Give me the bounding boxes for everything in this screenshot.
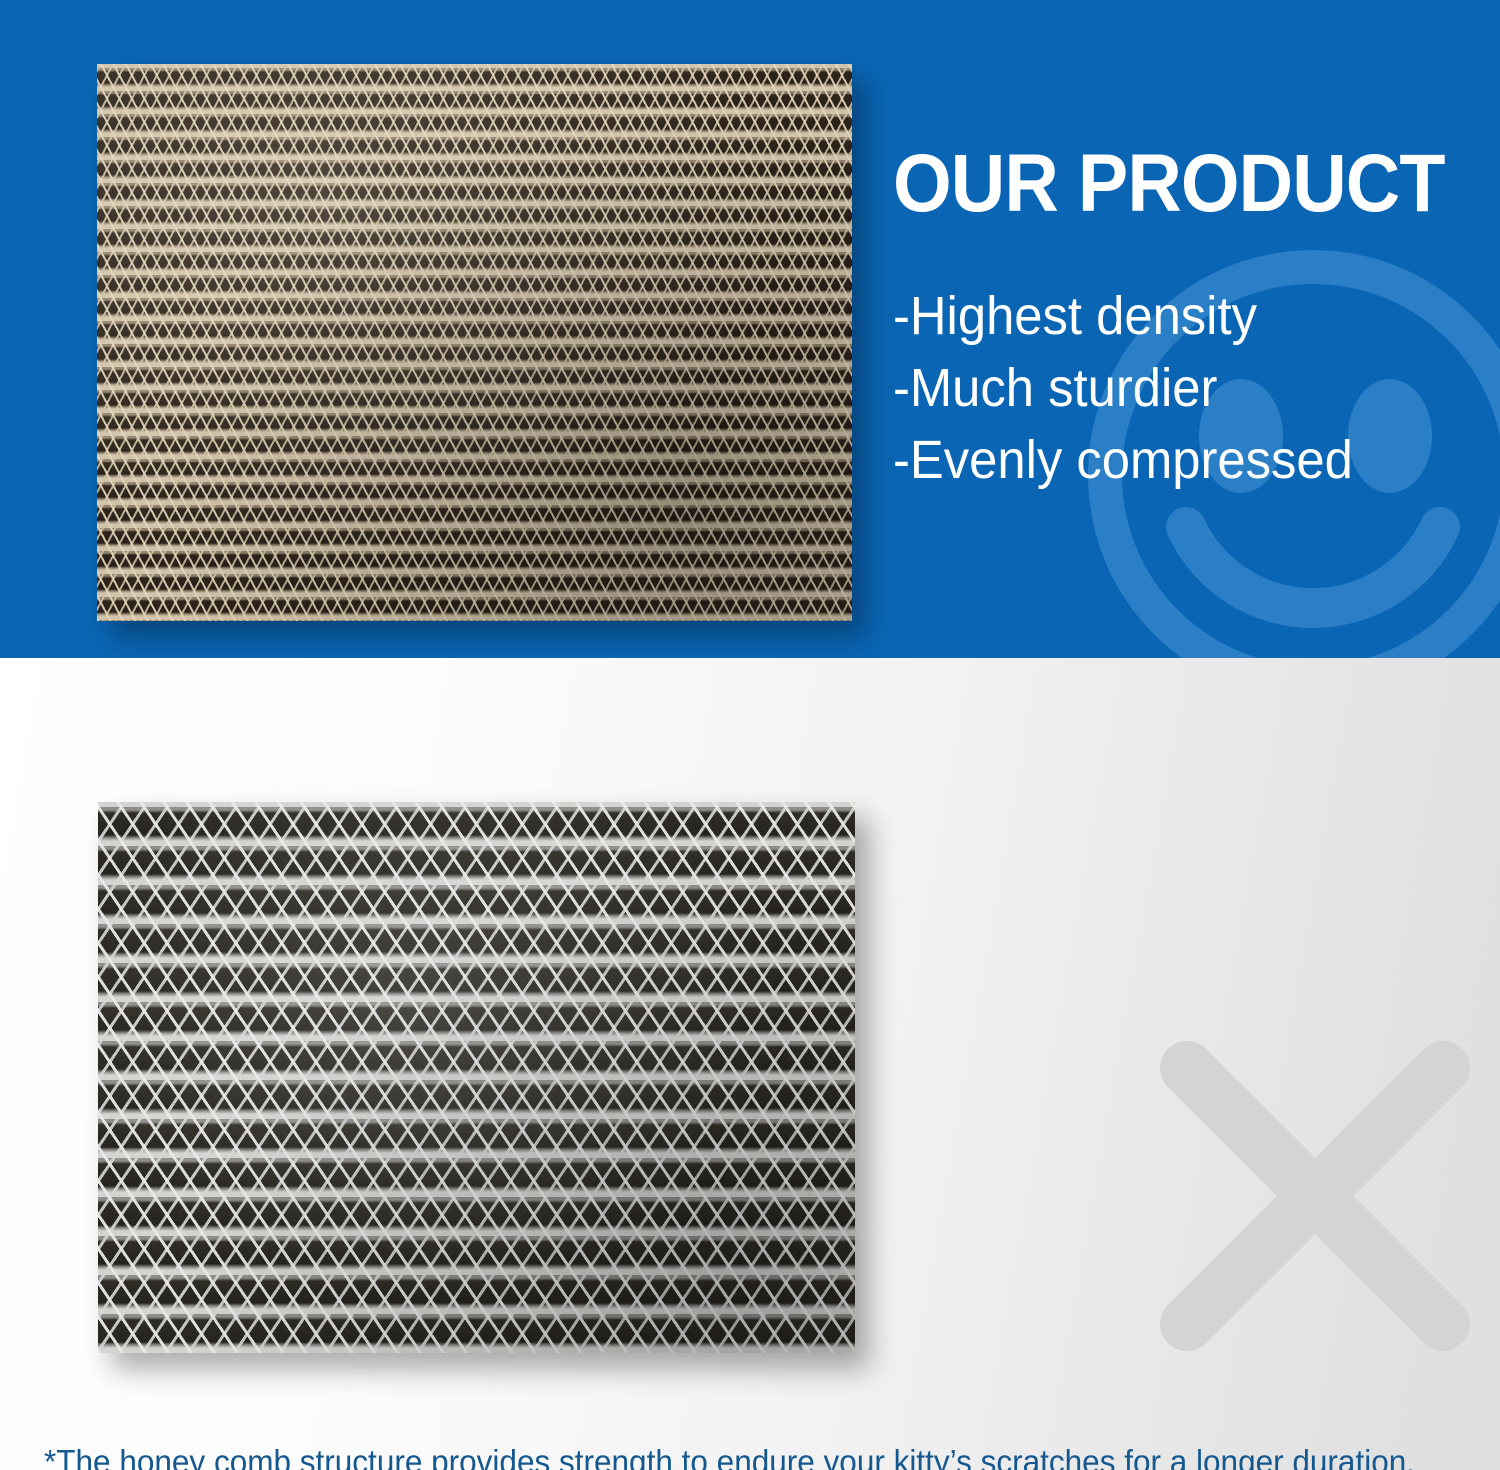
our-product-copy: OUR PRODUCT -Highest density -Much sturd… — [893, 145, 1493, 496]
our-product-bullet-list: -Highest density -Much sturdier -Evenly … — [893, 281, 1493, 496]
product-comparison-poster: OUR PRODUCT -Highest density -Much sturd… — [0, 0, 1500, 1470]
our-product-panel: OUR PRODUCT -Highest density -Much sturd… — [0, 0, 1500, 658]
our-product-bullet: -Evenly compressed — [893, 425, 1457, 497]
coarse-flute-texture — [98, 802, 855, 1353]
our-product-cardboard-image — [97, 64, 852, 621]
others-cardboard-image — [98, 802, 855, 1353]
others-panel: OTHERS -Large grooves -Light weight -Low… — [0, 658, 1500, 1470]
footnote-text: *The honey comb structure provides stren… — [44, 1441, 1400, 1470]
cross-x-icon — [1145, 1026, 1485, 1366]
our-product-heading: OUR PRODUCT — [893, 145, 1445, 223]
dense-flute-texture — [97, 64, 852, 621]
our-product-bullet: -Much sturdier — [893, 353, 1457, 425]
our-product-bullet: -Highest density — [893, 281, 1457, 353]
